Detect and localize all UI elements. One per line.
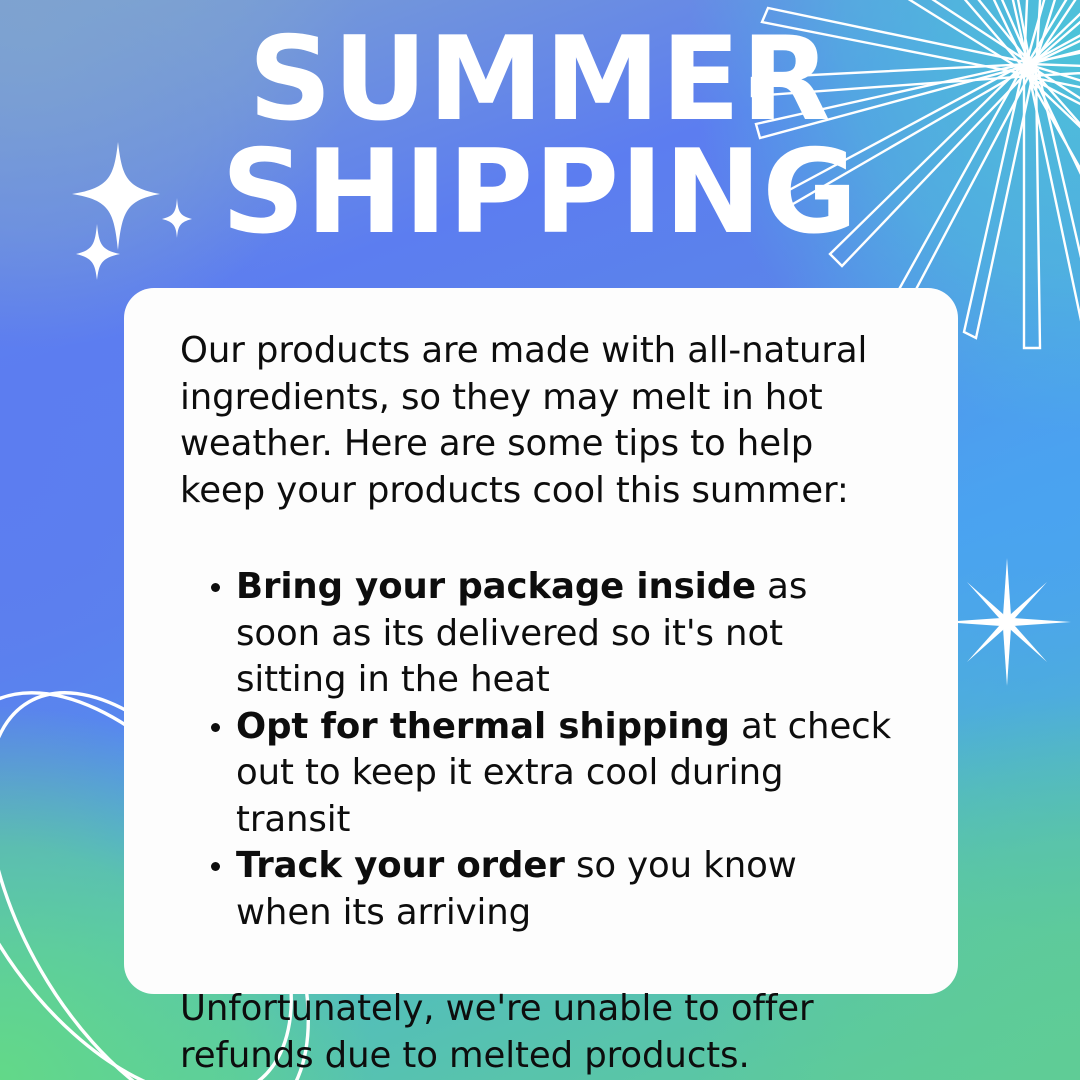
tip-lead: Opt for thermal shipping [236,706,730,747]
tip-lead: Bring your package inside [236,566,756,607]
list-item: Track your order so you know when its ar… [180,843,902,936]
headline-line-2: SHIPPING [0,137,1080,250]
bullet-dot-icon [211,862,220,871]
bullet-dot-icon [211,583,220,592]
info-card: Our products are made with all-natural i… [124,288,958,994]
page-title: SUMMER SHIPPING [0,24,1080,249]
tips-list: Bring your package inside as soon as its… [180,564,902,936]
poster-canvas: SUMMER SHIPPING Our products are made wi… [0,0,1080,1080]
eight-point-star-icon [937,552,1077,692]
intro-paragraph: Our products are made with all-natural i… [180,328,902,514]
list-item: Bring your package inside as soon as its… [180,564,902,704]
headline-line-1: SUMMER [0,24,1080,137]
bullet-dot-icon [211,723,220,732]
tip-lead: Track your order [236,845,565,886]
list-item: Opt for thermal shipping at check out to… [180,704,902,844]
outro-paragraph: Unfortunately, we're unable to offer ref… [180,986,902,1079]
